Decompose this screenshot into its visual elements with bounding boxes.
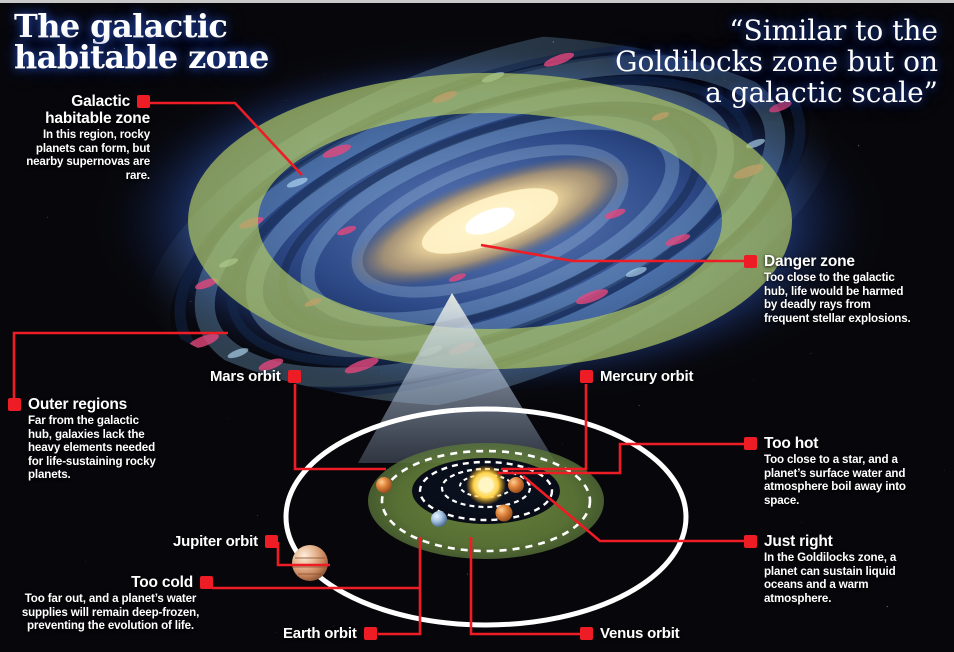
- callout-heading-line2: habitable zone: [8, 110, 150, 127]
- callout-just-right: Just right In the Goldilocks zone, a pla…: [744, 533, 916, 605]
- callout-body: Too close to the galactic hub, life woul…: [764, 271, 916, 325]
- callout-body: In this region, rocky planets can form, …: [8, 128, 150, 182]
- bullet-icon: [744, 437, 757, 450]
- callout-heading: Galactic: [71, 93, 130, 110]
- mars-planet: [376, 477, 392, 493]
- bullet-icon: [200, 576, 213, 589]
- callout-heading: Too hot: [764, 435, 818, 452]
- page-title-line2: habitable zone: [14, 42, 269, 73]
- jupiter-planet: [292, 545, 328, 581]
- callout-too-hot: Too hot Too close to a star, and a plane…: [744, 435, 916, 507]
- pull-quote: “Similar to the Goldilocks zone but on a…: [518, 15, 938, 108]
- bullet-icon: [265, 535, 278, 548]
- callout-body: Too far out, and a planet’s water suppli…: [8, 592, 213, 633]
- callout-heading: Outer regions: [28, 396, 127, 413]
- earth-planet: [431, 511, 447, 527]
- callout-heading: Too cold: [131, 574, 193, 591]
- venus-planet: [496, 505, 513, 522]
- callout-body: In the Goldilocks zone, a planet can sus…: [764, 551, 916, 605]
- label-text: Mars orbit: [210, 368, 281, 385]
- label-jupiter-orbit: Jupiter orbit: [173, 533, 278, 550]
- label-text: Venus orbit: [600, 625, 679, 642]
- callout-heading: Just right: [764, 533, 833, 550]
- callout-too-cold: Too cold Too far out, and a planet’s wat…: [8, 574, 213, 633]
- mercury-planet: [508, 477, 524, 493]
- callout-danger-zone: Danger zone Too close to the galactic hu…: [744, 253, 916, 325]
- bullet-icon: [8, 398, 21, 411]
- page-title: The galactic habitable zone: [14, 11, 269, 73]
- infographic-canvas: The galactic habitable zone “Similar to …: [0, 0, 954, 652]
- bullet-icon: [364, 627, 377, 640]
- label-mars-orbit: Mars orbit: [210, 368, 301, 385]
- label-earth-orbit: Earth orbit: [283, 625, 377, 642]
- callout-body: Far from the galactic hub, galaxies lack…: [28, 414, 158, 482]
- bullet-icon: [288, 370, 301, 383]
- label-text: Jupiter orbit: [173, 533, 258, 550]
- bullet-icon: [137, 95, 150, 108]
- bullet-icon: [580, 370, 593, 383]
- pull-quote-line1: “Similar to the: [518, 15, 938, 46]
- pull-quote-line2: Goldilocks zone but on: [518, 46, 938, 77]
- label-mercury-orbit: Mercury orbit: [580, 368, 693, 385]
- label-text: Mercury orbit: [600, 368, 693, 385]
- bullet-icon: [744, 535, 757, 548]
- solar-system-diagram: [276, 391, 696, 641]
- pull-quote-line3: a galactic scale”: [518, 77, 938, 108]
- callout-galactic-habitable-zone: Galactic habitable zone In this region, …: [8, 93, 150, 182]
- callout-heading: Danger zone: [764, 253, 855, 270]
- label-venus-orbit: Venus orbit: [580, 625, 679, 642]
- bullet-icon: [744, 255, 757, 268]
- label-text: Earth orbit: [283, 625, 357, 642]
- callout-body: Too close to a star, and a planet’s surf…: [764, 453, 916, 507]
- callout-outer-regions: Outer regions Far from the galactic hub,…: [8, 396, 158, 482]
- bullet-icon: [580, 627, 593, 640]
